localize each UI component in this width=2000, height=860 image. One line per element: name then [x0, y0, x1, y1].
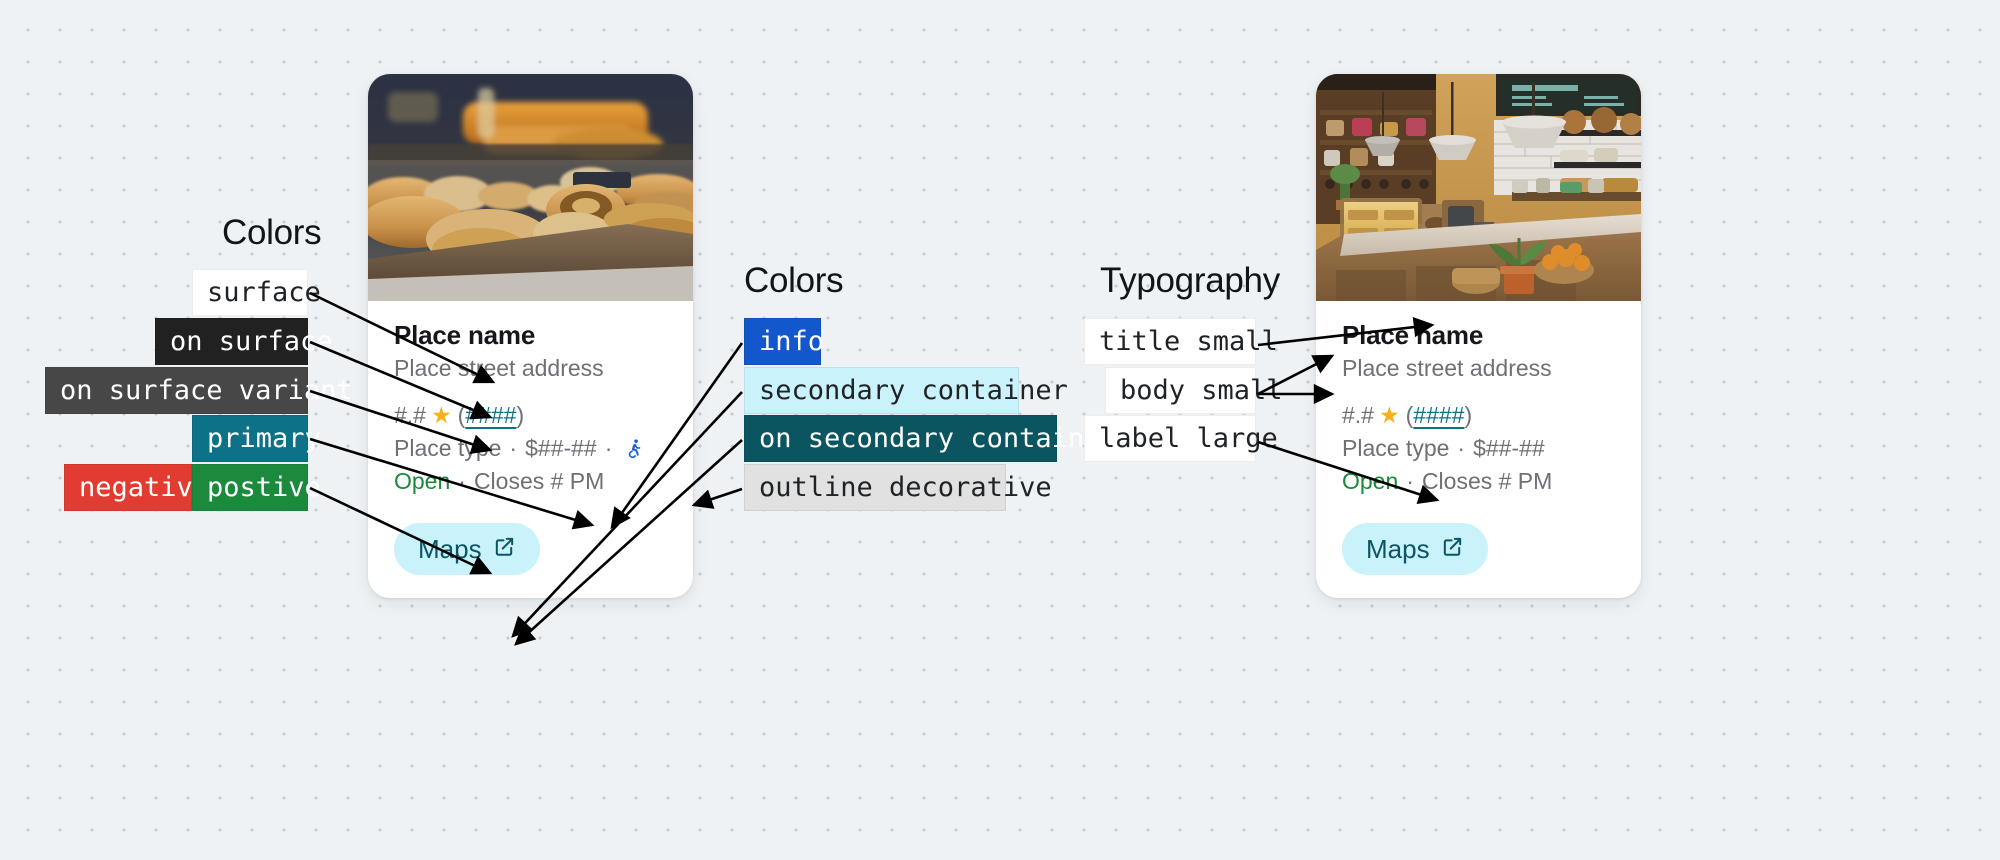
review-count-link[interactable]: #### — [465, 399, 516, 432]
separator-dot: · — [458, 465, 466, 498]
place-name: Place name — [1342, 319, 1615, 352]
star-icon: ★ — [431, 399, 452, 432]
color-chip-label: surface — [207, 279, 321, 306]
cafe-interior-photo — [1316, 74, 1641, 301]
external-link-icon — [493, 534, 516, 565]
place-meta: #.# ★ (####) Place type · $##-## Open · … — [1342, 399, 1615, 497]
place-type: Place type — [394, 432, 501, 465]
review-close-paren: ) — [516, 399, 524, 432]
place-address: Place street address — [394, 354, 667, 384]
place-card-middle[interactable]: Place name Place street address #.# ★ (#… — [368, 74, 693, 598]
color-chip-label: on secondary container — [759, 425, 1117, 452]
wheelchair-accessible-icon — [624, 438, 644, 459]
type-chip-label: label large — [1099, 425, 1278, 452]
type-chip-title-small[interactable]: title small — [1084, 318, 1256, 365]
price-range: $##-## — [1473, 432, 1545, 465]
section-heading-colors-left: Colors — [222, 213, 321, 253]
color-chip-on-secondary-container[interactable]: on secondary container — [744, 415, 1057, 462]
color-chip-on-surface[interactable]: on surface — [155, 318, 308, 365]
color-chip-on-surface-variant[interactable]: on surface variant — [45, 367, 308, 414]
color-chip-label: secondary container — [759, 377, 1068, 404]
hours-row: Open · Closes # PM — [1342, 465, 1615, 498]
price-range: $##-## — [525, 432, 597, 465]
place-name: Place name — [394, 319, 667, 352]
maps-button-label: Maps — [418, 534, 482, 565]
place-address: Place street address — [1342, 354, 1615, 384]
place-meta: #.# ★ (####) Place type · $##-## · — [394, 399, 667, 497]
external-link-icon — [1441, 534, 1464, 565]
separator-dot: · — [509, 432, 517, 465]
rating-row: #.# ★ (####) — [1342, 399, 1615, 432]
type-price-row: Place type · $##-## — [1342, 432, 1615, 465]
card-body: Place name Place street address #.# ★ (#… — [368, 301, 693, 598]
place-card-right[interactable]: Place name Place street address #.# ★ (#… — [1316, 74, 1641, 598]
bakery-photo-graphic — [368, 74, 693, 301]
separator-dot: · — [1406, 465, 1414, 498]
separator-dot: · — [1457, 432, 1465, 465]
type-price-row: Place type · $##-## · — [394, 432, 667, 465]
color-chip-surface[interactable]: surface — [192, 269, 308, 316]
type-chip-label-large[interactable]: label large — [1084, 415, 1256, 462]
bakery-display-photo — [368, 74, 693, 301]
separator-dot: · — [605, 432, 613, 465]
rating-row: #.# ★ (####) — [394, 399, 667, 432]
color-chip-label: on surface variant — [60, 377, 353, 404]
place-type: Place type — [1342, 432, 1449, 465]
type-chip-label: title small — [1099, 328, 1278, 355]
open-status: Open — [1342, 465, 1398, 498]
review-close-paren: ) — [1464, 399, 1472, 432]
hours-row: Open · Closes # PM — [394, 465, 667, 498]
color-chip-outline-decorative[interactable]: outline decorative — [744, 464, 1006, 511]
color-chip-label: primary — [207, 425, 321, 452]
star-icon: ★ — [1379, 399, 1400, 432]
color-chip-negative[interactable]: negative — [64, 464, 192, 511]
review-open-paren: ( — [1406, 399, 1414, 432]
color-chip-label: negative — [79, 474, 209, 501]
maps-button-label: Maps — [1366, 534, 1430, 565]
maps-button[interactable]: Maps — [394, 523, 540, 575]
maps-button[interactable]: Maps — [1342, 523, 1488, 575]
color-chip-secondary-container[interactable]: secondary container — [744, 367, 1019, 414]
review-open-paren: ( — [458, 399, 466, 432]
color-chip-label: outline decorative — [759, 474, 1052, 501]
color-chip-label: postive — [207, 474, 321, 501]
type-chip-label: body small — [1120, 377, 1283, 404]
color-chip-primary[interactable]: primary — [192, 415, 308, 462]
rating-value: #.# — [394, 399, 426, 432]
section-heading-typography: Typography — [1100, 261, 1280, 301]
color-chip-info[interactable]: info — [744, 318, 821, 365]
section-heading-colors-mid: Colors — [744, 261, 843, 301]
closing-time: Closes # PM — [474, 465, 604, 498]
card-body: Place name Place street address #.# ★ (#… — [1316, 301, 1641, 598]
color-chip-postive[interactable]: postive — [192, 464, 308, 511]
rating-value: #.# — [1342, 399, 1374, 432]
type-chip-body-small[interactable]: body small — [1105, 367, 1256, 414]
cafe-photo-graphic — [1316, 74, 1641, 301]
closing-time: Closes # PM — [1422, 465, 1552, 498]
open-status: Open — [394, 465, 450, 498]
review-count-link[interactable]: #### — [1413, 399, 1464, 432]
color-chip-label: on surface — [170, 328, 333, 355]
color-chip-label: info — [759, 328, 824, 355]
